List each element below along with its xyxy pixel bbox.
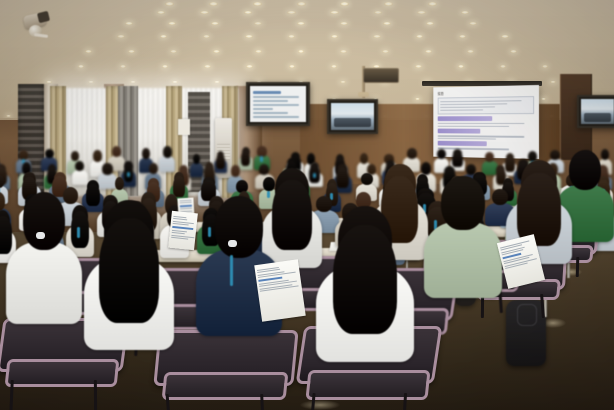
audience-head: [569, 150, 601, 190]
wall-monitor-left-screen: [250, 86, 306, 122]
audience-head: [93, 150, 102, 162]
ceiling-downlight: [415, 98, 420, 100]
slide-text-line: [438, 126, 509, 128]
audience-head: [112, 146, 121, 157]
slide-text-line: [440, 106, 495, 108]
ceiling-downlight: [200, 11, 209, 15]
ceiling-downlight: [467, 50, 474, 53]
audience-member: [84, 200, 174, 350]
wall-monitor-center[interactable]: [327, 99, 378, 134]
slide-text-line: [440, 109, 482, 111]
slide-text-line: [438, 135, 524, 137]
audience-head: [102, 163, 113, 174]
ceiling-downlight: [120, 65, 126, 68]
ceiling-downlight: [500, 65, 506, 68]
audience-head: [71, 151, 79, 161]
ceiling-downlight: [213, 50, 220, 53]
ceiling-downlight: [510, 50, 517, 53]
audience-head: [485, 152, 494, 162]
doc-line: [253, 112, 288, 114]
ceiling-downlight: [170, 50, 177, 53]
slide-section-header-3: [438, 141, 487, 146]
ceiling-downlight: [417, 11, 426, 15]
ceiling-downlight: [425, 50, 432, 53]
wall-monitor-left[interactable]: [246, 82, 310, 126]
audience-member: [159, 146, 175, 172]
ceiling-downlight: [78, 65, 84, 68]
audience-head: [215, 196, 263, 258]
chair-leg: [9, 380, 13, 410]
slide-section-header-2: [438, 129, 481, 134]
chair-seat: [305, 370, 430, 400]
lanyard: [230, 255, 233, 286]
ceiling-downlight: [246, 65, 252, 68]
audience-torso: [6, 242, 82, 324]
doc-line: [253, 104, 299, 106]
ceiling-downlight: [340, 50, 347, 53]
camera-lens-icon: [37, 11, 50, 23]
wall-monitor-center-screen: [331, 103, 374, 130]
printed-handout[interactable]: [254, 259, 306, 322]
audience-head: [437, 149, 446, 159]
ceiling-downlight: [461, 11, 470, 15]
audience-torso: [159, 156, 175, 172]
audience-member: [6, 192, 82, 324]
wall-notice-sign: [178, 119, 190, 135]
ceiling-downlight: [289, 65, 295, 68]
audience-head: [45, 149, 54, 159]
doc-line: [253, 91, 281, 94]
ceiling-downlight: [382, 50, 389, 53]
ceiling-downlight: [204, 65, 210, 68]
audience-long-hair: [99, 218, 158, 323]
ceiling-downlight: [541, 98, 546, 100]
ceiling-downlight: [209, 2, 218, 6]
doc-line: [253, 100, 288, 102]
handout-text-line: [180, 202, 192, 204]
projector-body: [363, 68, 399, 83]
audience-head: [149, 163, 158, 175]
doc-line: [253, 116, 299, 118]
monitor-center-photo: [331, 103, 374, 130]
ceiling-downlight: [415, 65, 421, 68]
slide-box-1: [438, 96, 534, 115]
face-mask: [36, 232, 45, 239]
audience-long-hair: [241, 150, 250, 167]
conference-room-photo: 議題: [0, 0, 614, 410]
audience-member: [316, 206, 414, 362]
printed-handout[interactable]: [168, 211, 198, 251]
chair-seat: [161, 372, 288, 400]
audience-long-hair: [452, 152, 462, 167]
audience-head: [231, 165, 240, 177]
handout-text-line: [171, 237, 188, 240]
audience-head: [19, 150, 27, 160]
wall-monitor-right[interactable]: [577, 95, 614, 128]
chair-seat: [5, 359, 120, 387]
audience-head: [163, 146, 172, 157]
slide-title: 議題: [438, 89, 534, 96]
ceiling-downlight: [128, 50, 135, 53]
audience-long-hair: [216, 154, 225, 170]
handout-text-line: [180, 204, 192, 207]
audience-head: [407, 148, 417, 158]
monitor-right-photo: [581, 99, 614, 124]
backpack-floor[interactable]: [506, 300, 546, 366]
ceiling-downlight: [298, 50, 305, 53]
ceiling-downlight: [297, 2, 306, 6]
ceiling-security-camera: [22, 10, 56, 44]
ceiling-downlight: [85, 50, 92, 53]
slide-text-line: [438, 138, 496, 140]
ceiling-mounted-projector: [355, 66, 397, 86]
ceiling-downlight: [428, 2, 437, 6]
slide-text-line: [440, 100, 521, 103]
monitor-left-document: [250, 86, 306, 122]
audience-head: [115, 177, 125, 191]
camera-mount-arm: [34, 33, 48, 38]
audience-long-hair: [517, 173, 561, 246]
audience-long-hair: [333, 225, 398, 334]
audience-head: [441, 176, 485, 230]
ceiling-downlight: [287, 11, 296, 15]
projector-collar: [358, 92, 369, 97]
lanyard: [260, 156, 263, 161]
ceiling-downlight: [542, 65, 548, 68]
handout-text-line: [180, 199, 192, 201]
face-mask: [228, 240, 237, 247]
conference-chair[interactable]: [156, 330, 290, 410]
audience-head: [360, 153, 368, 164]
ceiling-downlight: [162, 65, 168, 68]
ceiling-downlight: [330, 11, 339, 15]
slide-text-line: [438, 123, 524, 125]
audience-torso: [424, 222, 502, 298]
audience-head: [142, 148, 150, 159]
doc-line: [253, 108, 273, 110]
handout-text-line: [180, 208, 192, 210]
audience-head: [23, 192, 66, 250]
slide-text-line: [440, 103, 507, 105]
ceiling-downlight: [165, 2, 174, 6]
slide-section-header-1: [438, 116, 492, 121]
ceiling-downlight: [458, 65, 464, 68]
ceiling-downlight: [384, 2, 393, 6]
doc-line: [253, 96, 299, 98]
ceiling-downlight: [253, 2, 262, 6]
audience-member: [424, 176, 502, 298]
chair-leg: [93, 380, 96, 410]
audience-head: [361, 173, 373, 185]
wall-monitor-right-screen: [581, 99, 614, 124]
ceiling-downlight: [255, 50, 262, 53]
audience-head: [257, 146, 266, 157]
ceiling-downlight: [331, 65, 337, 68]
